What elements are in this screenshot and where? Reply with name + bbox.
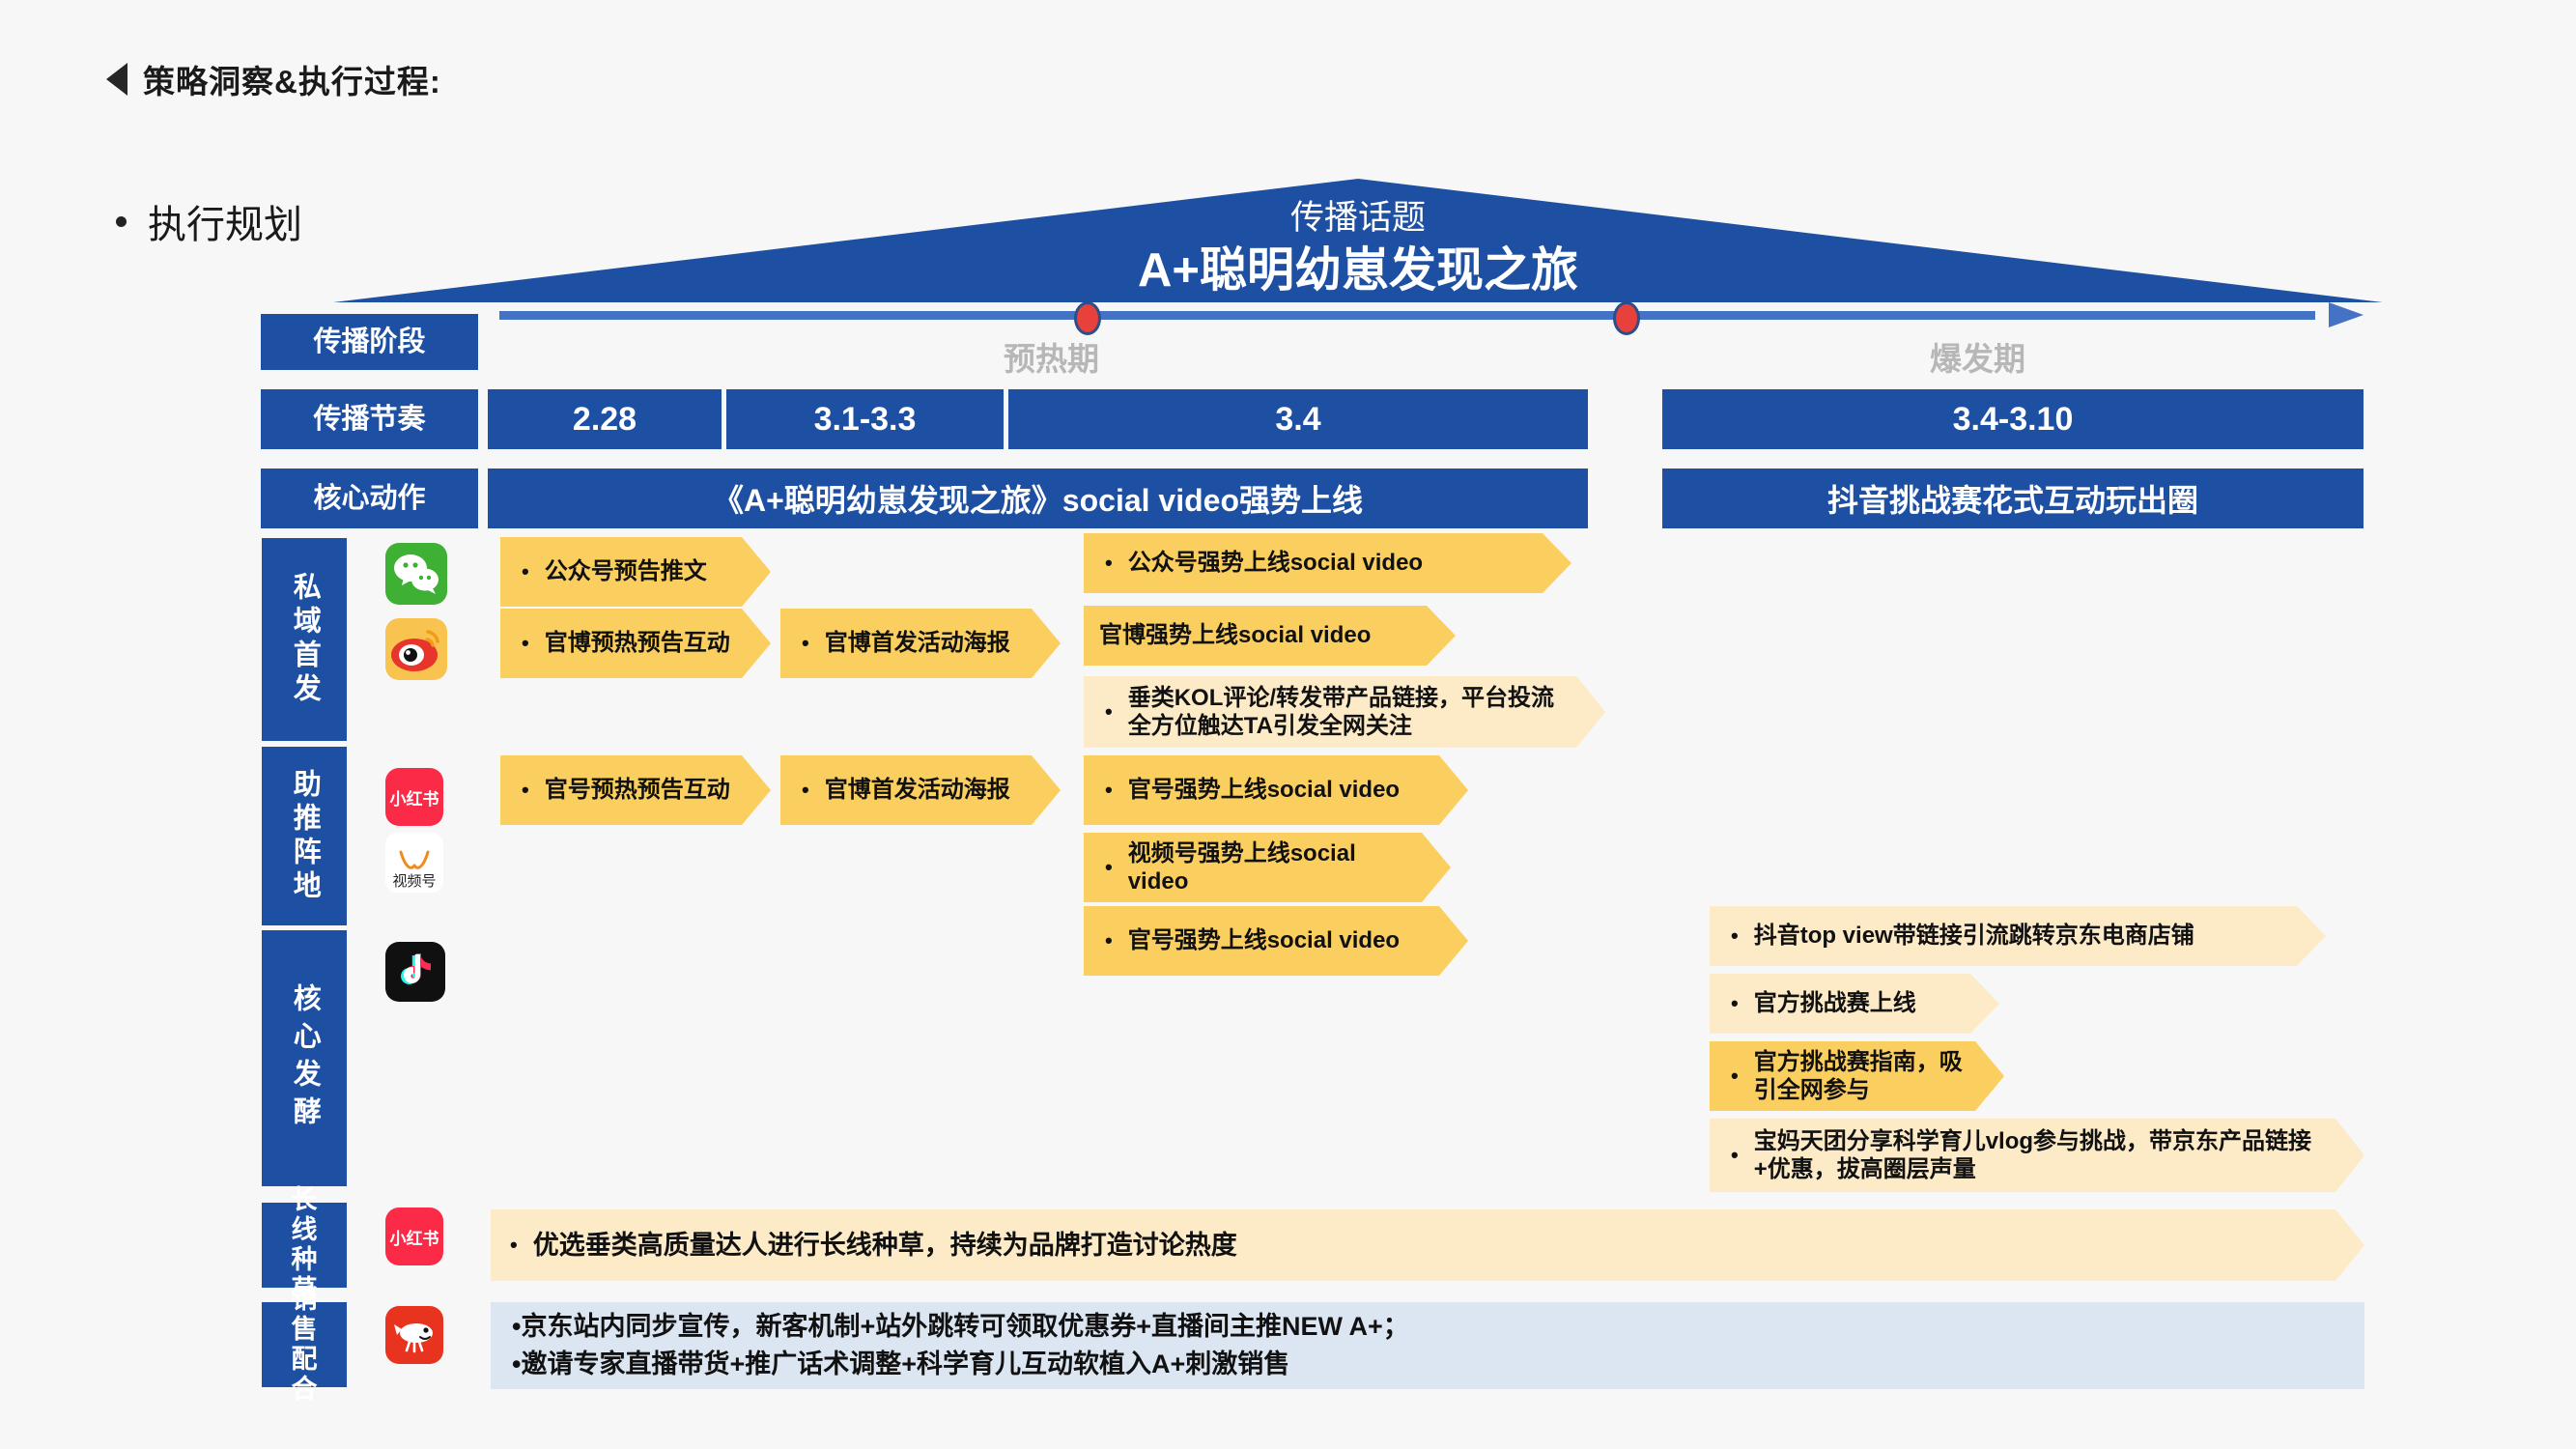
wechat-icon: [385, 543, 447, 610]
date-cell-2: 3.4: [1008, 389, 1588, 449]
tag-r2-4-text: 官号强势上线social video: [1128, 926, 1400, 954]
bullet-icon: •: [522, 633, 529, 654]
bullet-icon: •: [1105, 553, 1113, 574]
bullet-icon: •: [802, 633, 809, 654]
timeline-marker-warmup: [1074, 301, 1101, 335]
tag-r2-3-text: 视频号强势上线social video: [1128, 839, 1410, 896]
tag-r1-3-text: 公众号强势上线social video: [1128, 549, 1423, 577]
date-cell-3: 3.4-3.10: [1662, 389, 2364, 449]
tag-r3-2-text: 官方挑战赛指南，吸引全网参与: [1754, 1048, 1964, 1105]
tag-r1-0-text: 公众号预告推文: [545, 557, 707, 585]
bullet-icon: •: [802, 780, 809, 801]
bullet-icon: •: [510, 1235, 518, 1256]
tag-r2-2-text: 官号强势上线social video: [1128, 776, 1400, 804]
timeline-axis: [499, 302, 2364, 327]
tag-r2-1-text: 官博首发活动海报: [825, 776, 1010, 804]
sales-line-0: • 京东站内同步宣传，新客机制+站外跳转可领取优惠券+直播间主推NEW A+；: [512, 1311, 2343, 1343]
weibo-icon: [385, 618, 447, 685]
bullet-icon: •: [1105, 701, 1113, 723]
bullet-icon: •: [1731, 993, 1739, 1014]
row-label-longterm: 长线种草: [262, 1203, 347, 1288]
tag-r2-0: • 官号预热预告互动: [500, 755, 771, 825]
core-action-cell-1: 抖音挑战赛花式互动玩出圈: [1662, 469, 2364, 528]
core-action-cell-0: 《A+聪明幼崽发现之旅》social video强势上线: [488, 469, 1588, 528]
xiaohongshu-icon: 小红书: [385, 768, 443, 831]
tag-r2-1: • 官博首发活动海报: [780, 755, 1061, 825]
bullet-icon: •: [1731, 925, 1739, 947]
tag-r1-5: • 垂类KOL评论/转发带产品链接，平台投流全方位触达TA引发全网关注: [1084, 676, 1605, 748]
page-title-text: 策略洞察&执行过程:: [143, 56, 441, 102]
banner-line-2: A+聪明幼崽发现之旅: [333, 232, 2383, 300]
date-cell-1: 3.1-3.3: [726, 389, 1004, 449]
douyin-icon: [385, 942, 445, 1007]
tag-r1-4: 官博强势上线social video: [1084, 606, 1456, 666]
phase-label-burst: 爆发期: [1930, 333, 2025, 380]
tag-r2-3: • 视频号强势上线social video: [1084, 833, 1451, 902]
tag-longterm-text: 优选垂类高质量达人进行长线种草，持续为品牌打造讨论热度: [533, 1230, 1237, 1262]
section-subtitle: 执行规划: [116, 193, 302, 249]
timeline-bar: [499, 311, 2315, 320]
tag-r2-0-text: 官号预热预告互动: [545, 776, 730, 804]
campaign-banner: 传播话题 A+聪明幼崽发现之旅: [333, 179, 2383, 302]
sales-line-1: • 邀请专家直播带货+推广话术调整+科学育儿互动软植入A+刺激销售: [512, 1349, 2343, 1380]
svg-text:小红书: 小红书: [390, 789, 439, 809]
row-label-rhythm: 传播节奏: [261, 389, 478, 449]
section-subtitle-text: 执行规划: [148, 193, 302, 249]
xiaohongshu-icon: 小红书: [385, 1207, 443, 1270]
tag-r2-2: • 官号强势上线social video: [1084, 755, 1468, 825]
bullet-icon: •: [1731, 1145, 1739, 1166]
tag-r1-4-text: 官博强势上线social video: [1099, 621, 1371, 649]
row-label-boost: 助推阵地: [262, 747, 347, 925]
bullet-icon: •: [1105, 780, 1113, 801]
bullet-icon: •: [512, 1311, 521, 1343]
svg-text:视频号: 视频号: [392, 873, 436, 890]
timeline-arrow-icon: [2329, 302, 2364, 327]
tag-r1-1: • 官博预热预告互动: [500, 609, 771, 678]
row-label-sales: 销售配合: [262, 1302, 347, 1387]
date-cell-0: 2.28: [488, 389, 722, 449]
tag-r1-0: • 公众号预告推文: [500, 537, 771, 607]
bullet-icon: •: [522, 561, 529, 582]
tag-r1-2-text: 官博首发活动海报: [825, 629, 1010, 657]
bullet-icon: •: [512, 1349, 521, 1380]
svg-text:小红书: 小红书: [390, 1229, 439, 1248]
tag-r1-2: • 官博首发活动海报: [780, 609, 1061, 678]
bullet-icon: •: [522, 780, 529, 801]
tag-longterm: • 优选垂类高质量达人进行长线种草，持续为品牌打造讨论热度: [491, 1209, 2364, 1281]
page-title: 策略洞察&执行过程:: [106, 56, 441, 102]
sales-line-0-text: 京东站内同步宣传，新客机制+站外跳转可领取优惠券+直播间主推NEW A+；: [521, 1311, 1408, 1343]
sales-panel: • 京东站内同步宣传，新客机制+站外跳转可领取优惠券+直播间主推NEW A+； …: [491, 1302, 2364, 1389]
tag-r2-4: • 官号强势上线social video: [1084, 906, 1468, 976]
tag-r3-1: • 官方挑战赛上线: [1710, 974, 1999, 1034]
triangle-bullet-icon: [106, 63, 127, 96]
tag-r1-3: • 公众号强势上线social video: [1084, 533, 1571, 593]
tag-r1-1-text: 官博预热预告互动: [545, 629, 730, 657]
tag-r3-0-text: 抖音top view带链接引流跳转京东电商店铺: [1754, 922, 2194, 950]
timeline-marker-burst: [1613, 301, 1640, 335]
bullet-icon: •: [1731, 1065, 1739, 1087]
bullet-dot-icon: [116, 216, 127, 227]
tag-r3-0: • 抖音top view带链接引流跳转京东电商店铺: [1710, 906, 2326, 966]
sales-line-1-text: 邀请专家直播带货+推广话术调整+科学育儿互动软植入A+刺激销售: [521, 1349, 1289, 1380]
tag-r3-3: • 宝妈天团分享科学育儿vlog参与挑战，带京东产品链接+优惠，拔高圈层声量: [1710, 1119, 2364, 1192]
wechat-channels-icon: 视频号: [385, 833, 443, 897]
tag-r3-3-text: 宝妈天团分享科学育儿vlog参与挑战，带京东产品链接+优惠，拔高圈层声量: [1754, 1127, 2324, 1184]
row-label-stage: 传播阶段: [261, 314, 478, 370]
row-label-private-domain: 私域首发: [262, 538, 347, 741]
row-label-sales-text: 销售配合: [292, 1285, 318, 1405]
bullet-icon: •: [1105, 930, 1113, 952]
row-label-ferment: 核心发酵: [262, 930, 347, 1186]
phase-label-warmup: 预热期: [1004, 333, 1099, 380]
row-label-core-action: 核心动作: [261, 469, 478, 528]
jd-dog-icon: [385, 1306, 443, 1369]
tag-r3-1-text: 官方挑战赛上线: [1754, 989, 1916, 1017]
tag-r1-5-text: 垂类KOL评论/转发带产品链接，平台投流全方位触达TA引发全网关注: [1128, 684, 1565, 741]
bullet-icon: •: [1105, 857, 1113, 878]
tag-r3-2: • 官方挑战赛指南，吸引全网参与: [1710, 1041, 2004, 1111]
